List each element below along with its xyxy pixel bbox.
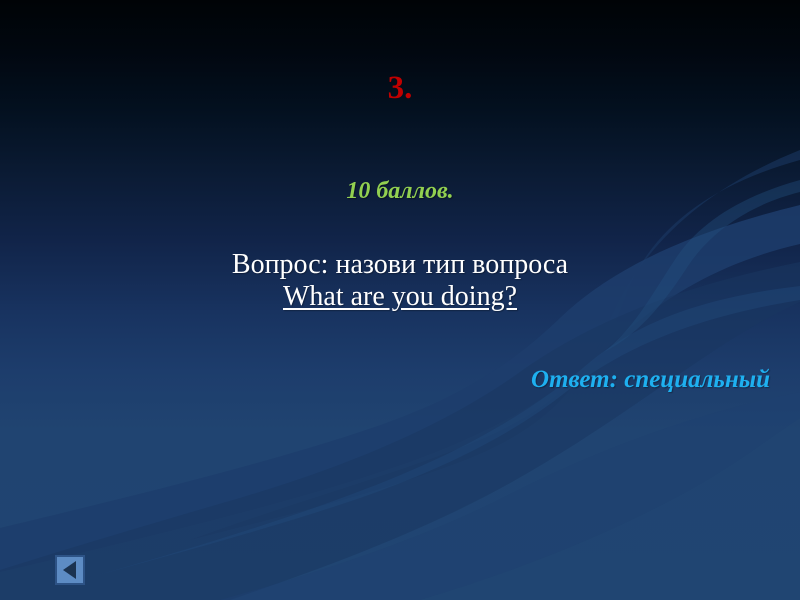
round-number: 3. [0,70,800,107]
points-label: 10 баллов. [0,178,800,205]
question-sentence: What are you doing? [283,281,517,313]
back-button[interactable] [55,555,85,585]
quiz-slide: 3. 10 баллов. Вопрос: назови тип вопроса… [0,0,800,600]
back-triangle-icon [63,561,76,579]
question-prompt: Вопрос: назови тип вопроса [0,249,800,281]
answer-label: Ответ: специальный [531,366,770,394]
question-block: Вопрос: назови тип вопроса What are you … [0,249,800,312]
